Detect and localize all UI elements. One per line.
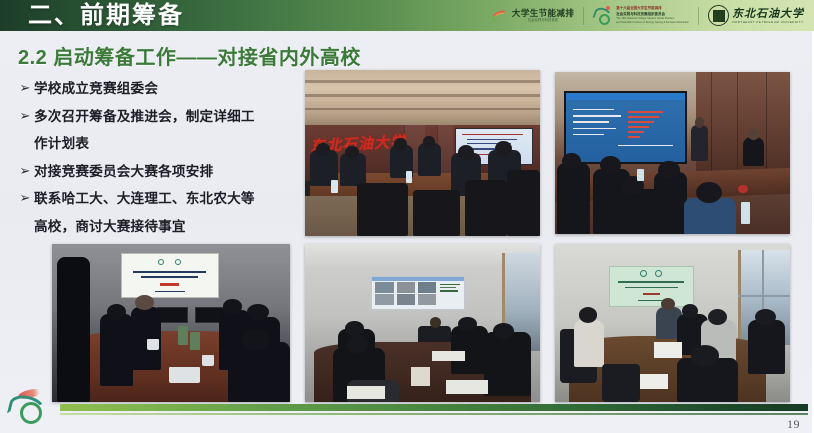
- slide-header-banner: 二、前期筹备 大学生节能减排 社会实践与科技竞赛 第十六届全国大学生: [0, 0, 814, 31]
- photo-projection-slide: [121, 253, 219, 297]
- competition-runner-logo: [6, 386, 52, 426]
- photo-paper: [654, 342, 682, 358]
- competition-emblem: 第十六届全国大学生节能减排 社会实践与科技竞赛组织委员会 The 16th Na…: [593, 4, 689, 28]
- bullet-arrow-icon: ➢: [16, 106, 34, 127]
- photo-cup: [147, 339, 159, 350]
- photo-person: [418, 143, 442, 176]
- photo-person: [430, 317, 442, 328]
- section-heading: 2.2 启动筹备工作——对接省内外高校: [18, 41, 361, 70]
- photo-bottle: [741, 202, 750, 225]
- photo-person: [600, 156, 621, 174]
- photo-person: [743, 137, 764, 166]
- bullet-list: ➢ 学校成立竞赛组委会 ➢ 多次召开筹备及推进会，制定详细工 作计划表 ➢ 对接…: [16, 78, 298, 243]
- photo-person: [223, 299, 242, 313]
- list-item: ➢ 学校成立竞赛组委会: [16, 78, 298, 100]
- photo-tissue-box: [169, 367, 200, 383]
- photo-bottle: [637, 169, 644, 180]
- list-item-label: 联系哈工大、大连理工、东北农大等: [34, 188, 255, 210]
- photo-person: [247, 304, 268, 320]
- photo-person: [458, 317, 477, 331]
- photo-person: [748, 320, 786, 374]
- photo-person: [316, 143, 330, 156]
- list-item: ➢ 对接竞赛委员会大赛各项安排: [16, 161, 298, 183]
- photo-detail: [305, 94, 540, 97]
- photo-person: [107, 304, 126, 320]
- photo-person: [458, 145, 474, 160]
- photo-bright-room-photo-grid-slide: [305, 244, 540, 402]
- list-item-label: 多次召开筹备及推进会，制定详细工: [34, 106, 255, 128]
- photo-person: [484, 332, 531, 395]
- photo-cup: [202, 355, 214, 366]
- energy-saving-emblem-sublabel: 社会实践与科技竞赛: [512, 18, 574, 23]
- photo-chair: [507, 170, 540, 236]
- photo-chair: [602, 364, 640, 402]
- photo-detail: [305, 80, 540, 83]
- photo-presenter: [691, 125, 707, 161]
- competition-emblem-line-2: 社会实践与科技竞赛组织委员会: [616, 12, 689, 16]
- photo-projection-slide: [609, 266, 694, 307]
- university-seal-icon: [708, 5, 729, 26]
- competition-emblem-line-en-1: The 16th National College Student Social…: [616, 17, 689, 20]
- list-item: ➢ 多次召开筹备及推进会，制定详细工: [16, 106, 298, 128]
- photo-bottle: [331, 180, 338, 193]
- photo-paper: [446, 380, 488, 394]
- leaf-arc-icon: [492, 8, 509, 24]
- photo-person: [557, 163, 590, 234]
- photo-detail: [305, 108, 540, 110]
- list-item-continuation: 作计划表: [16, 133, 298, 155]
- list-item: ➢ 联系哈工大、大连理工、东北农大等: [16, 188, 298, 210]
- bullet-arrow-icon: ➢: [16, 161, 34, 182]
- competition-emblem-line-en-2: and Scientific Contest on Energy Saving …: [616, 21, 689, 24]
- photo-person: [755, 309, 776, 325]
- photo-person: [661, 298, 675, 311]
- photo-chair: [413, 190, 460, 236]
- runner-ring-icon: [593, 5, 613, 26]
- photo-person: [345, 146, 359, 158]
- photo-conference-hall-calligraphy: 东北石油大学: [305, 70, 540, 236]
- photo-detail: [738, 295, 790, 297]
- photo-person: [57, 257, 90, 402]
- logo-divider: [698, 7, 699, 25]
- competition-emblem-line-1: 第十六届全国大学生节能减排: [616, 6, 689, 10]
- photo-person: [394, 138, 407, 150]
- university-name-en: NORTHEAST PETROLEUM UNIVERSITY: [732, 20, 804, 24]
- photo-person: [696, 182, 722, 203]
- photo-person: [345, 321, 364, 335]
- photo-paper: [411, 367, 430, 386]
- photo-person: [562, 153, 581, 169]
- photo-person: [658, 161, 679, 179]
- logo-divider: [583, 7, 584, 25]
- page-number: 19: [787, 417, 800, 432]
- photo-bottle: [406, 171, 412, 183]
- photo-projection-slide: [371, 276, 465, 311]
- list-item-continuation: 高校，商讨大赛接待事宜: [16, 216, 298, 238]
- energy-saving-emblem-label: 大学生节能减排: [512, 9, 574, 18]
- page-title: 二、前期筹备: [28, 1, 184, 31]
- list-item-label: 对接竞赛委员会大赛各项安排: [34, 161, 213, 183]
- presentation-slide: 二、前期筹备 大学生节能减排 社会实践与科技竞赛 第十六届全国大学生: [0, 0, 814, 433]
- photo-bottle: [178, 326, 188, 345]
- footer-divider: [60, 404, 808, 411]
- ring-icon: [20, 402, 42, 424]
- photo-bright-room-green-slide: [555, 244, 790, 402]
- photo-person: [493, 323, 514, 339]
- photo-chair: [465, 180, 507, 236]
- energy-saving-emblem: 大学生节能减排 社会实践与科技竞赛: [492, 4, 574, 28]
- photo-display-screen: [564, 91, 686, 164]
- photo-person: [684, 198, 736, 234]
- header-logo-group: 大学生节能减排 社会实践与科技竞赛 第十六届全国大学生节能减排 社会实践与科技竞…: [492, 3, 804, 28]
- photo-person: [708, 309, 727, 325]
- photo-monitor: [157, 307, 188, 323]
- list-item-label: 高校，商讨大赛接待事宜: [34, 216, 186, 238]
- photo-person: [340, 153, 366, 186]
- bullet-arrow-icon: ➢: [16, 188, 34, 209]
- photo-person: [242, 329, 268, 350]
- photo-small-room-white-slide: [52, 244, 290, 402]
- footer-divider-thin: [60, 413, 808, 415]
- photo-paper: [347, 386, 385, 399]
- photo-paper: [432, 351, 465, 360]
- photo-person: [579, 307, 598, 323]
- photo-person: [654, 172, 687, 234]
- university-emblem: 东北石油大学 NORTHEAST PETROLEUM UNIVERSITY: [708, 4, 804, 28]
- bullet-arrow-icon: ➢: [16, 78, 34, 99]
- photo-person: [691, 345, 719, 366]
- photo-person: [451, 326, 489, 373]
- photo-meeting-blue-screen: [555, 72, 790, 234]
- photo-chair: [357, 183, 409, 236]
- list-item-label: 学校成立竞赛组委会: [34, 78, 158, 100]
- photo-person: [574, 320, 605, 367]
- photo-person: [228, 342, 290, 402]
- university-name-cn: 东北石油大学: [732, 8, 804, 20]
- photo-bottle: [190, 332, 200, 349]
- photo-person: [100, 314, 133, 387]
- list-item-label: 作计划表: [34, 133, 89, 155]
